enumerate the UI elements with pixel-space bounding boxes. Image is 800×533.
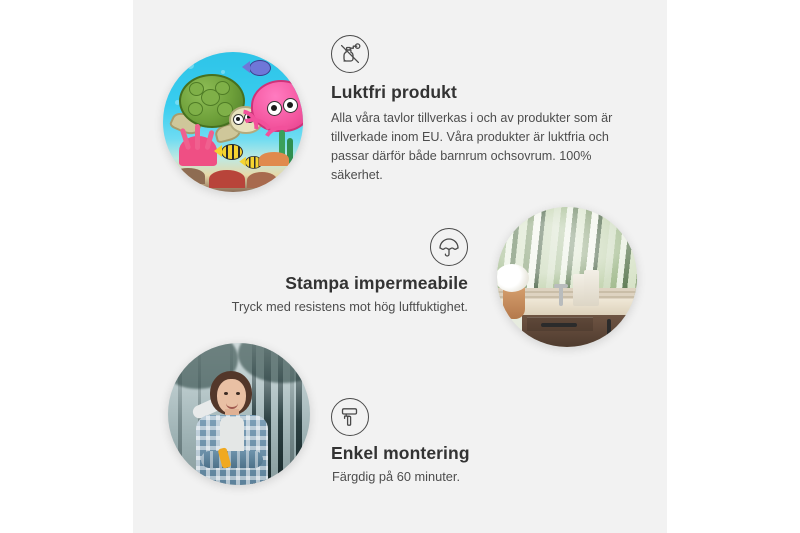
umbrella-icon [430,228,468,266]
feature-2-title: Stampa impermeabile [180,273,468,294]
infographic-page: Luktfri produkt Alla våra tavlor tillver… [0,0,800,533]
feature-1-title: Luktfri produkt [331,82,631,103]
feature-block-easy-install: Enkel montering Färgdig på 60 minuter. [331,398,601,486]
no-odor-spray-bottle-icon [331,35,369,73]
paint-roller-icon [331,398,369,436]
feature-1-description: Alla våra tavlor tillverkas i och av pro… [331,109,631,186]
feature-block-waterproof: Stampa impermeabile Tryck med resistens … [180,228,468,316]
feature-2-icon-wrap [180,228,468,266]
woman-paint-roller-forest-photo [168,343,310,485]
bathroom-botanical-wallpaper-photo [497,207,637,347]
underwater-cartoon-photo [163,52,303,192]
feature-3-icon-wrap [331,398,601,436]
feature-block-odorless: Luktfri produkt Alla våra tavlor tillver… [331,35,631,186]
feature-3-title: Enkel montering [331,443,601,464]
feature-1-icon-wrap [331,35,631,73]
feature-3-description: Färgdig på 60 minuter. [331,467,461,486]
feature-2-description: Tryck med resistens mot hög luftfuktighe… [180,297,468,316]
